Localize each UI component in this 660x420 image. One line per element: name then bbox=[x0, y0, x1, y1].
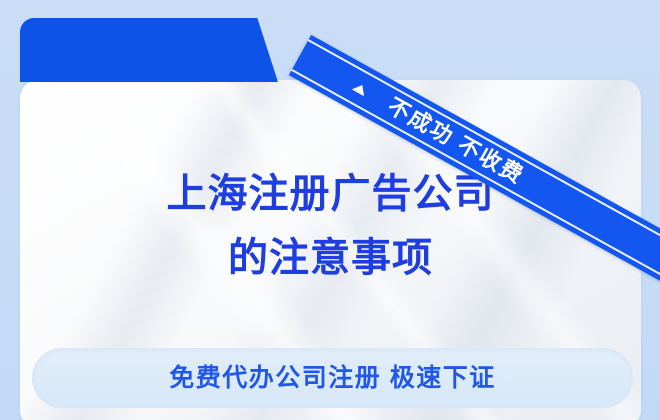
triangle-up-icon bbox=[352, 81, 369, 96]
cta-banner[interactable]: 免费代办公司注册 极速下证 bbox=[32, 348, 633, 408]
cta-label: 免费代办公司注册 极速下证 bbox=[169, 366, 495, 391]
promo-poster: 上海壹隆 上海注册广告公司 的注意事项 免费代办公司注册 极速下证 不成功 不收… bbox=[0, 0, 660, 420]
brand-tab[interactable] bbox=[20, 18, 278, 82]
headline-line-2: 的注意事项 bbox=[20, 226, 641, 290]
content-card: 上海注册广告公司 的注意事项 免费代办公司注册 极速下证 bbox=[20, 80, 641, 420]
